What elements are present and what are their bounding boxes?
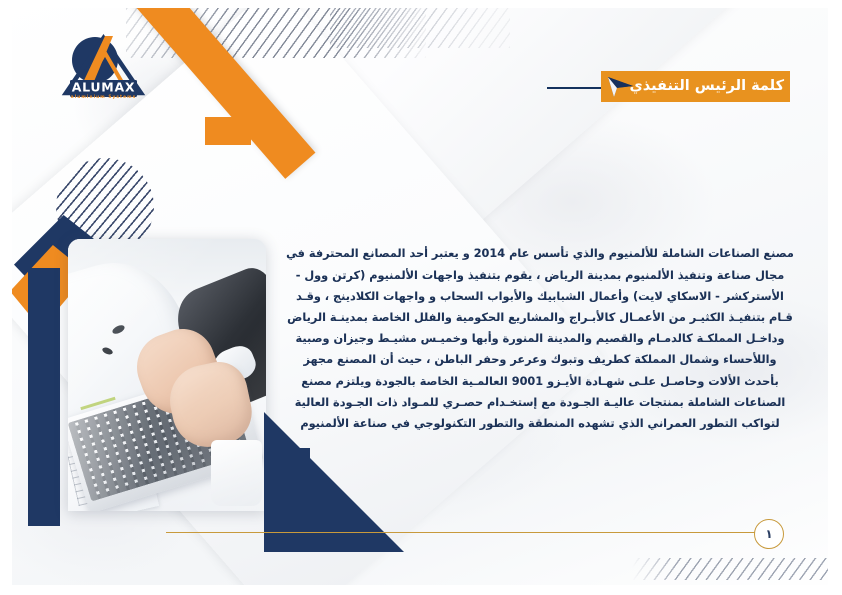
svg-text:ALUMAX: ALUMAX xyxy=(72,80,136,95)
gold-horizontal-rule xyxy=(166,532,756,533)
ceo-message-paragraph: مصنع الصناعات الشاملة للألمنيوم والذي تأ… xyxy=(286,243,794,434)
section-title-banner: كلمة الرئيس التنفيذي xyxy=(601,71,790,102)
page-margin-left xyxy=(0,0,12,595)
brochure-page: ALUMAX aluminium Systems كلمة الرئيس الت… xyxy=(0,0,842,595)
laptop-typing-photo xyxy=(68,239,266,511)
alumax-logo: ALUMAX aluminium Systems xyxy=(57,32,150,104)
page-margin-right xyxy=(828,0,842,595)
section-title-text: كلمة الرئيس التنفيذي xyxy=(629,79,790,94)
navy-left-edge-bar xyxy=(28,268,60,526)
hatch-bottom-icon xyxy=(632,558,842,580)
title-connector-line xyxy=(547,87,605,89)
page-margin-bottom xyxy=(0,585,842,595)
orange-diagonal-stripe-foot xyxy=(205,117,251,145)
page-margin-top xyxy=(0,0,842,8)
navy-wedge-bar xyxy=(264,448,310,528)
svg-text:aluminium Systems: aluminium Systems xyxy=(71,94,137,100)
play-arrow-icon xyxy=(605,75,635,99)
page-number-badge: ١ xyxy=(754,519,784,549)
page-number-text: ١ xyxy=(765,528,772,540)
